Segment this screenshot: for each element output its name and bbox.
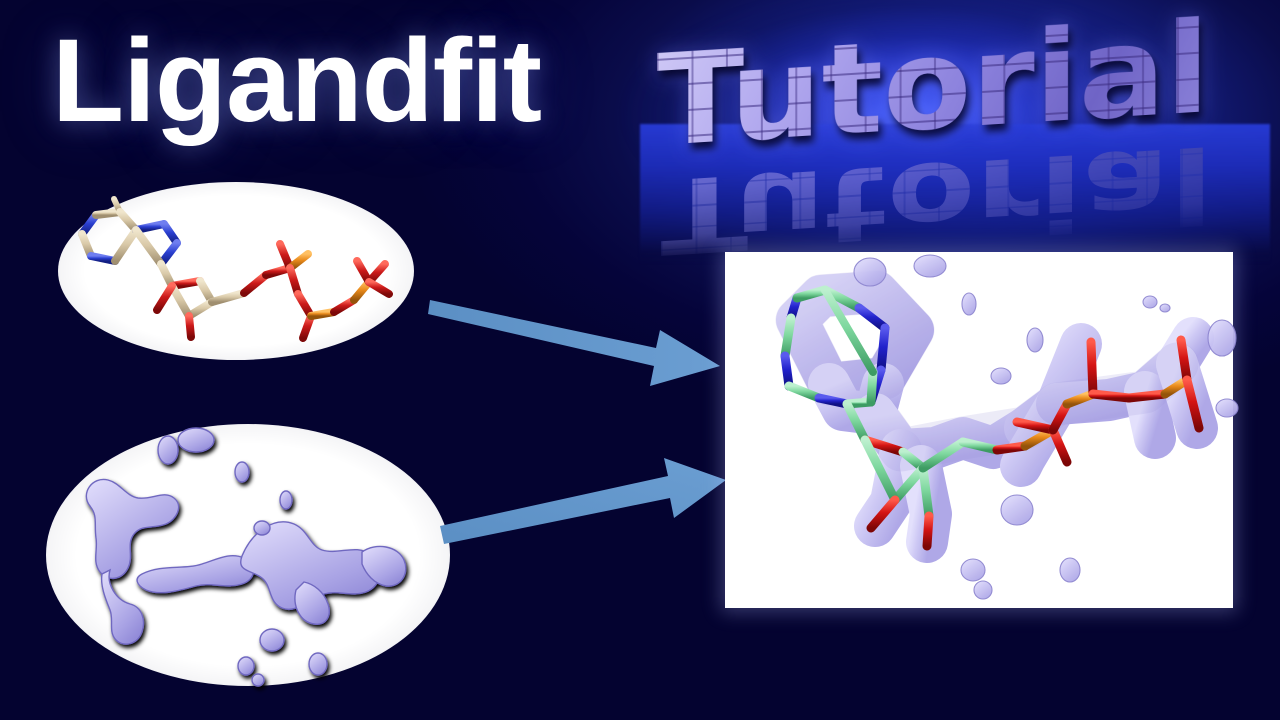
density-map-oval: [46, 424, 450, 686]
ligand-stick-model: [58, 182, 414, 360]
fitted-result-panel: [725, 252, 1233, 608]
arrow-density-to-result: [440, 452, 730, 548]
ligand-fitted-into-density: [725, 252, 1233, 608]
page-title: Ligandfit: [52, 22, 541, 140]
tutorial-slide: Ligandfit Tutorial Tutorial: [0, 0, 1280, 720]
arrow-ligand-to-result: [428, 286, 728, 392]
tutorial-wordmark: Tutorial Tutorial: [650, 4, 1250, 254]
tutorial-main-text: Tutorial: [657, 5, 1210, 165]
ligand-model-oval: [58, 182, 414, 360]
electron-density-blob: [46, 424, 450, 686]
